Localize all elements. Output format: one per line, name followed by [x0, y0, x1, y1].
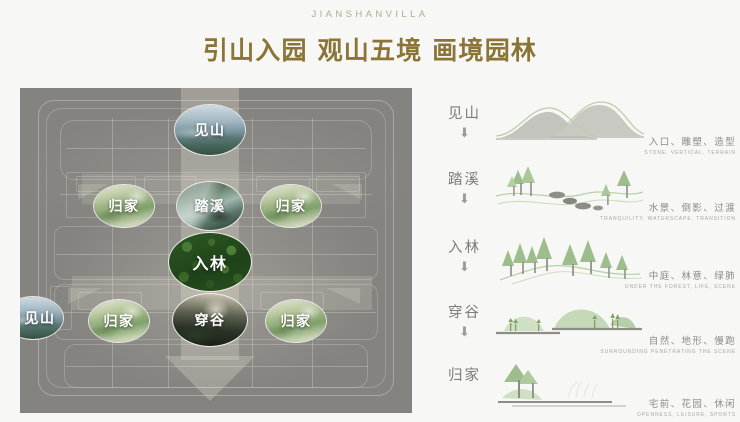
- plan-bubble-label: 归家: [281, 311, 312, 331]
- journey-caption: 中庭、林意、绿肺 UNDER THE FOREST, LIFE, SCENE: [625, 268, 736, 290]
- home-garden-illustration: [494, 358, 644, 416]
- forest-path-illustration: [494, 230, 644, 288]
- plan-bubble-label: 归家: [276, 196, 307, 216]
- journey-row-jianshan[interactable]: 见山 ⬇ 入口、雕塑、造型 STONE, VERTICAL, TERRAIN: [428, 96, 740, 160]
- plan-bubble-label: 归家: [109, 196, 140, 216]
- arrow-down-icon: ⬇: [459, 192, 468, 205]
- plan-bubble-guijia-left-upper[interactable]: 归家: [93, 184, 155, 228]
- site-plan-map[interactable]: 见山 踏溪 归家 归家 入林 见山 归家 穿谷 归家: [20, 88, 412, 413]
- journey-caption: 入口、雕塑、造型 STONE, VERTICAL, TERRAIN: [644, 134, 736, 156]
- journey-row-guijia[interactable]: 归家: [428, 358, 740, 422]
- plan-bubble-label: 见山: [195, 120, 226, 140]
- journey-caption-en: OPENNESS, LEISURE, SPORTS: [637, 412, 736, 418]
- brand-name: JIANSHANVILLA: [0, 9, 740, 20]
- journey-sequence: 见山 ⬇ 入口、雕塑、造型 STONE, VERTICAL, TERRAIN 踏…: [428, 90, 740, 415]
- plan-bubble-guijia-right-lower[interactable]: 归家: [265, 299, 327, 343]
- content-area: 见山 踏溪 归家 归家 入林 见山 归家 穿谷 归家 见山: [0, 88, 740, 419]
- page-title: 引山入园 观山五境 画境园林: [0, 31, 740, 67]
- plan-bubble-guijia-right-upper[interactable]: 归家: [260, 184, 322, 228]
- plan-bubble-jianshan-top[interactable]: 见山: [174, 104, 246, 156]
- journey-caption-cn: 中庭、林意、绿肺: [625, 268, 736, 282]
- arrow-down-icon: ⬇: [459, 126, 468, 139]
- plan-bubble-label: 入林: [192, 250, 227, 274]
- journey-caption: 宅前、花园、休闲 OPENNESS, LEISURE, SPORTS: [637, 396, 736, 418]
- journey-caption-en: STONE, VERTICAL, TERRAIN: [644, 150, 736, 156]
- arrow-down-icon: ⬇: [459, 325, 468, 338]
- mountain-range-illustration: [494, 96, 644, 154]
- plan-bubble-rulin[interactable]: 入林: [168, 232, 252, 292]
- journey-caption-cn: 宅前、花园、休闲: [637, 396, 736, 410]
- plan-road-v-1: [112, 118, 113, 388]
- journey-caption: 水景、倒影、过渡 TRANQUILITY, WATERSCAPE, TRANSI…: [600, 200, 736, 222]
- journey-caption-en: UNDER THE FOREST, LIFE, SCENE: [625, 284, 736, 290]
- plan-bubble-taoxi[interactable]: 踏溪: [176, 181, 244, 231]
- journey-caption: 自然、地形、慢跑 SURROUNDING PENETRATING THE SCE…: [600, 333, 736, 355]
- page-header: JIANSHANVILLA 引山入园 观山五境 画境园林: [0, 0, 740, 67]
- journey-row-chuangu[interactable]: 穿谷 ⬇: [428, 295, 740, 359]
- journey-row-taoxi[interactable]: 踏溪 ⬇ 水景、倒影、过渡 TRAN: [428, 162, 740, 226]
- plan-bubble-guijia-left-lower[interactable]: 归家: [88, 299, 150, 343]
- plan-road-v-3: [252, 118, 253, 388]
- plan-road-v-4: [312, 118, 313, 388]
- plan-bubble-label: 穿谷: [195, 310, 226, 330]
- plan-unit-d: [316, 176, 360, 192]
- plan-bubble-label: 踏溪: [195, 196, 226, 216]
- journey-caption-cn: 入口、雕塑、造型: [644, 134, 736, 148]
- journey-caption-en: SURROUNDING PENETRATING THE SCENE: [600, 349, 736, 355]
- journey-caption-cn: 自然、地形、慢跑: [600, 333, 736, 347]
- journey-caption-en: TRANQUILITY, WATERSCAPE, TRANSITION: [600, 216, 736, 222]
- journey-caption-cn: 水景、倒影、过渡: [600, 200, 736, 214]
- plan-bubble-label: 归家: [104, 311, 135, 331]
- plan-bubble-label: 见山: [20, 308, 56, 328]
- plan-bubble-chuangu[interactable]: 穿谷: [172, 293, 248, 347]
- arrow-down-icon: ⬇: [459, 260, 468, 273]
- journey-row-rulin[interactable]: 入林 ⬇: [428, 230, 740, 294]
